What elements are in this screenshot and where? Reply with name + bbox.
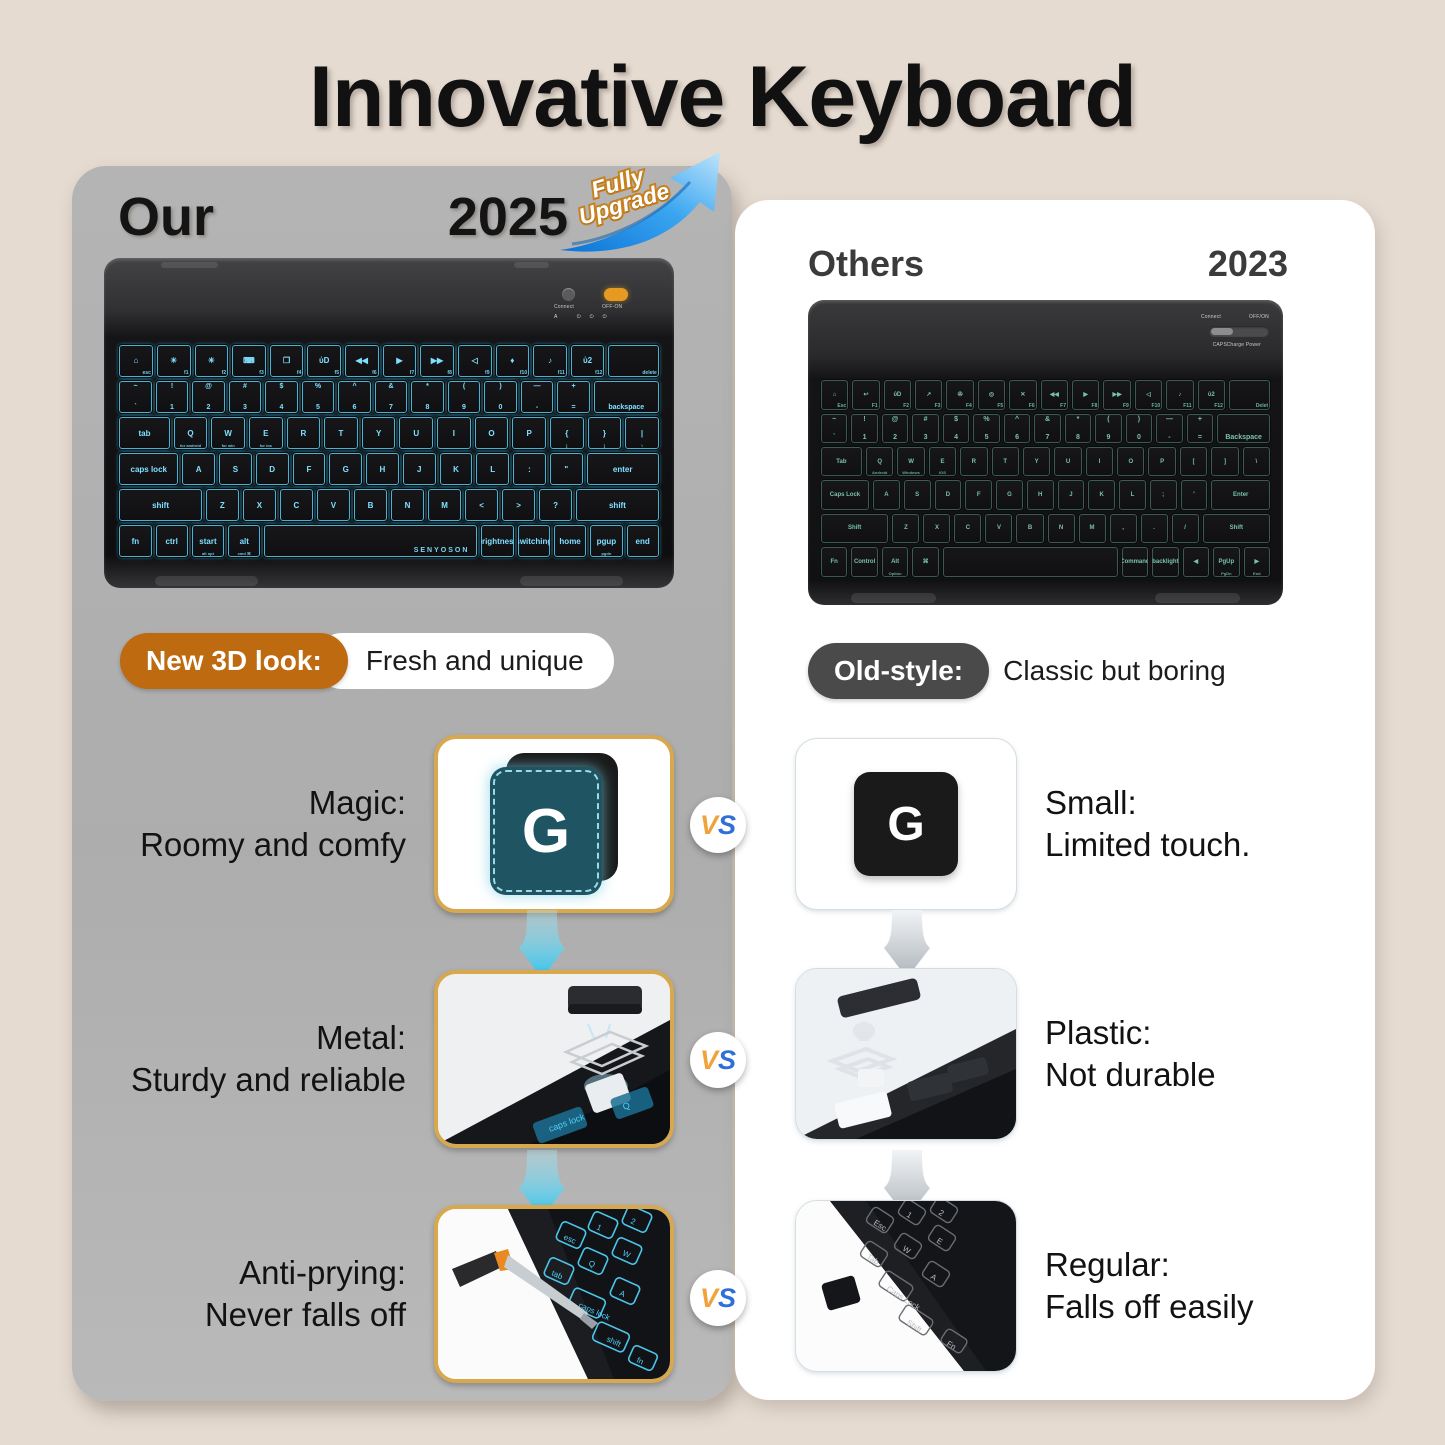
key-legend: ⌂ — [833, 392, 837, 398]
key-space[interactable] — [942, 546, 1119, 577]
key-legend: ὐD — [319, 356, 329, 365]
key-lower-legend: 8 — [426, 404, 430, 411]
feature-plastic-desc: Not durable — [1045, 1054, 1216, 1096]
key-legend: S — [233, 465, 238, 474]
key-"[interactable]: " — [549, 452, 584, 486]
key-f2[interactable]: ὐDF2 — [883, 379, 912, 410]
key-legend: ⌂ — [134, 356, 139, 365]
key-legend: ὑ2 — [1208, 392, 1215, 398]
key-8[interactable]: *8 — [410, 380, 445, 414]
key-g[interactable]: G — [995, 479, 1024, 510]
key-legend: K — [1099, 492, 1103, 498]
key-.[interactable]: . — [1140, 513, 1169, 544]
old-style-text: Classic but boring — [955, 643, 1256, 699]
feature-row-small: G Small: Limited touch. — [795, 738, 1355, 910]
key-n[interactable]: N — [390, 488, 425, 522]
key-control[interactable]: Control — [850, 546, 878, 577]
key-legend: ὑ2 — [583, 356, 592, 365]
key-sub-legend: f12 — [595, 370, 602, 376]
key-legend: ctrl — [165, 537, 177, 546]
our-style-row: New 3D look: Fresh and unique — [120, 633, 614, 689]
key-c[interactable]: C — [953, 513, 982, 544]
key--[interactable]: —- — [520, 380, 555, 414]
key-upper-legend: ^ — [1015, 416, 1019, 423]
key-row-asdf: caps lockASDFGHJKL:"enter — [118, 452, 660, 486]
key-,[interactable]: , — [1109, 513, 1138, 544]
others-key-rows: ⌂Esc↩F1ὐDF2↗F3✇F4◎F5✕F6◀◀F7▶F8▶▶F9◁F10♪F… — [820, 379, 1271, 577]
key-lower-legend: 9 — [1107, 434, 1111, 441]
key-legend: A — [196, 465, 202, 474]
power-switch[interactable] — [604, 288, 628, 301]
feature-regular-name: Regular: — [1045, 1244, 1253, 1286]
key-s[interactable]: S — [218, 452, 253, 486]
key-u[interactable]: U — [398, 416, 434, 450]
key-space[interactable]: SENYOSON — [263, 524, 478, 558]
our-keyboard-image: Connect OFF-ON A ⏻⏻⏻ ⌂esc☀f1☀f2⌨f3❐f4ὐDf… — [104, 258, 674, 588]
anti-prying-art: esc 1 2 tab Q W caps lock A shift fn — [438, 1209, 670, 1379]
key-x[interactable]: X — [922, 513, 951, 544]
key-1[interactable]: !1 — [850, 413, 878, 444]
infographic-root: Innovative Keyboard Our 2025 Fully Upgra… — [0, 0, 1445, 1445]
key-legend: ☀ — [170, 356, 177, 365]
key-y[interactable]: Y — [1022, 446, 1051, 477]
key-[[interactable]: [ — [1179, 446, 1208, 477]
key-f6[interactable]: ✕F6 — [1008, 379, 1037, 410]
key-b[interactable]: B — [353, 488, 388, 522]
connect-button[interactable] — [562, 288, 575, 301]
key-ctrl[interactable]: ctrl — [155, 524, 189, 558]
key-=[interactable]: += — [1186, 413, 1214, 444]
key-legend: G — [343, 465, 349, 474]
key-f3[interactable]: ↗F3 — [914, 379, 943, 410]
key-end[interactable]: end — [626, 524, 660, 558]
key-6[interactable]: ^6 — [1003, 413, 1031, 444]
our-year: 2025 — [448, 186, 568, 248]
key-f4[interactable]: ❐f4 — [269, 344, 305, 378]
key-home[interactable]: home — [553, 524, 587, 558]
key-fn[interactable]: Fn — [820, 546, 848, 577]
key-5[interactable]: %5 — [972, 413, 1000, 444]
key-g[interactable]: G — [328, 452, 363, 486]
key-f6[interactable]: ◀◀f6 — [344, 344, 380, 378]
key-legend: Q — [187, 429, 193, 438]
key-r[interactable]: R — [959, 446, 988, 477]
key-sub-legend: F6 — [1029, 403, 1035, 409]
key-shift[interactable]: Shift — [1202, 513, 1272, 544]
key-0[interactable]: )0 — [1125, 413, 1153, 444]
key-legend: enter — [613, 465, 633, 474]
key-lower-legend: 2 — [893, 434, 897, 441]
key-f3[interactable]: ⌨f3 — [231, 344, 267, 378]
key-row-zxcv: shiftZXCVBNM<>?shift — [118, 488, 660, 522]
key-legend: ? — [553, 501, 558, 510]
key-shift[interactable]: shift — [575, 488, 660, 522]
key-lower-legend: - — [536, 404, 538, 411]
key-enter[interactable]: enter — [586, 452, 660, 486]
key-backspace[interactable]: backspace — [593, 380, 660, 414]
key-upper-legend: ) — [1138, 416, 1140, 423]
key-legend: Enter — [1233, 492, 1248, 498]
key-f2[interactable]: ☀f2 — [194, 344, 230, 378]
key-legend: ❐ — [283, 356, 290, 365]
key-legend: N — [1059, 525, 1063, 531]
key-row-zxcv: ShiftZXCVBNM,./Shift — [820, 513, 1271, 544]
feature-plastic-name: Plastic: — [1045, 1012, 1216, 1054]
key-legend: pgup — [597, 537, 617, 546]
key-upper-legend: & — [1045, 416, 1050, 423]
key-caps-lock[interactable]: caps lock — [118, 452, 179, 486]
plastic-switch-thumbnail — [795, 968, 1017, 1140]
key-9[interactable]: (9 — [1094, 413, 1122, 444]
key-legend: shift — [609, 501, 626, 510]
key-f9[interactable]: ▶▶F9 — [1102, 379, 1131, 410]
key-upper-legend: + — [571, 383, 575, 390]
key-/[interactable]: / — [1171, 513, 1200, 544]
bezel-vent-right — [514, 262, 548, 268]
key-fn[interactable]: fn — [118, 524, 152, 558]
key-legend: C — [966, 525, 970, 531]
key-pgup[interactable]: pguppgdn — [589, 524, 623, 558]
key-shift[interactable]: shift — [118, 488, 203, 522]
key-legend: V — [997, 525, 1001, 531]
key-lower-legend: 7 — [1046, 434, 1050, 441]
key-e[interactable]: Efor ios — [248, 416, 284, 450]
key-tab[interactable]: tab — [118, 416, 170, 450]
key-upper-legend: — — [534, 383, 541, 390]
key-tiny-legend: \ — [641, 443, 642, 448]
key-legend: ♪ — [1178, 392, 1181, 398]
key-l[interactable]: L — [1118, 479, 1147, 510]
key-f1[interactable]: ☀f1 — [156, 344, 192, 378]
key-i[interactable]: I — [436, 416, 472, 450]
key-k[interactable]: K — [1087, 479, 1116, 510]
key-legend: Command — [1121, 559, 1149, 565]
key-legend: J — [417, 465, 421, 474]
key-tiny-legend: for win — [222, 443, 235, 448]
key-v[interactable]: V — [316, 488, 351, 522]
key-q[interactable]: Qfor android — [173, 416, 209, 450]
key-sub-legend: F10 — [1152, 403, 1161, 409]
key-tiny-legend: for ios — [260, 443, 272, 448]
key-2[interactable]: @2 — [191, 380, 226, 414]
feature-metal-desc: Sturdy and reliable — [131, 1059, 406, 1101]
key-o[interactable]: O — [474, 416, 510, 450]
key-|[interactable]: |\ — [624, 416, 660, 450]
key-legend: D — [946, 492, 950, 498]
key-upper-legend: ) — [499, 383, 501, 390]
key-command[interactable]: Command — [1121, 546, 1149, 577]
key-h[interactable]: H — [1026, 479, 1055, 510]
key-sub-legend: F11 — [1183, 403, 1191, 409]
key-row-numbers: ~`!1@2#3$4%5^6&7*8(9)0—-+=Backspace — [820, 413, 1271, 444]
key-k[interactable]: K — [439, 452, 474, 486]
key-f11[interactable]: ♪f11 — [532, 344, 568, 378]
key-7[interactable]: &7 — [374, 380, 409, 414]
key-sub-legend: f2 — [222, 370, 226, 376]
key-legend: ⌘ — [923, 558, 929, 565]
old-style-badge: Old-style: — [808, 643, 989, 699]
key-legend: B — [1028, 525, 1032, 531]
key-sub-legend: f1 — [184, 370, 188, 376]
key-f5[interactable]: ◎F5 — [977, 379, 1006, 410]
key-pgup[interactable]: PgUpPgDn — [1212, 546, 1240, 577]
key-m[interactable]: M — [427, 488, 462, 522]
key-1[interactable]: !1 — [155, 380, 190, 414]
power-slider[interactable] — [1209, 326, 1269, 337]
key-upper-legend: # — [924, 416, 928, 423]
key-lower-legend: 1 — [170, 404, 174, 411]
key-▶[interactable]: ▶End — [1243, 546, 1271, 577]
key-upper-legend: ( — [463, 383, 465, 390]
key-x[interactable]: X — [242, 488, 277, 522]
key-z[interactable]: Z — [205, 488, 240, 522]
key-upper-legend: ~ — [133, 383, 137, 390]
key-0[interactable]: )0 — [483, 380, 518, 414]
key-letter-g: G — [522, 796, 570, 867]
key-s[interactable]: S — [903, 479, 932, 510]
feature-row-regular: Esc 1 2 Tab W E Caps Lock A Shift Fn Reg… — [795, 1200, 1355, 1372]
key--[interactable]: —- — [1155, 413, 1183, 444]
keyboard-brand: SENYOSON — [414, 547, 470, 554]
key-row-bottom: FnControlAltOption⌘Commandbacklight◀PgUp… — [820, 546, 1271, 577]
vs-badge-2: VS — [690, 1032, 746, 1088]
key-f8[interactable]: ▶F8 — [1071, 379, 1100, 410]
key-delet[interactable]: Delet — [1228, 379, 1271, 410]
key-3[interactable]: #3 — [911, 413, 939, 444]
key-i[interactable]: I — [1085, 446, 1114, 477]
key-sub-legend: delete — [642, 370, 656, 376]
key-legend: U — [1066, 459, 1070, 465]
key-l[interactable]: L — [475, 452, 510, 486]
key-sub-legend: f9 — [485, 370, 489, 376]
key-f12[interactable]: ὑ2F12 — [1197, 379, 1226, 410]
key-enter[interactable]: Enter — [1210, 479, 1271, 510]
key-upper-legend: ( — [1107, 416, 1109, 423]
key-9[interactable]: (9 — [447, 380, 482, 414]
connect-label: Connect — [554, 304, 574, 310]
key-legend: start — [199, 537, 216, 546]
key-t[interactable]: T — [991, 446, 1020, 477]
power-label: OFF-ON — [602, 304, 622, 310]
vs-badge-1: VS — [690, 797, 746, 853]
metal-switch-art: caps lock Q — [438, 974, 670, 1144]
key-lower-legend: 3 — [924, 434, 928, 441]
key-d[interactable]: D — [255, 452, 290, 486]
key-f10[interactable]: ◁F10 — [1134, 379, 1163, 410]
key-b[interactable]: B — [1015, 513, 1044, 544]
key-legend: M — [441, 501, 448, 510]
key-legend: ; — [1162, 492, 1164, 498]
key-f11[interactable]: ♪F11 — [1165, 379, 1194, 410]
key-'[interactable]: ' — [1180, 479, 1209, 510]
key-a[interactable]: A — [872, 479, 901, 510]
key-legend: ▶ — [1255, 558, 1260, 565]
key-4[interactable]: $4 — [942, 413, 970, 444]
key-][interactable]: ] — [1210, 446, 1239, 477]
key-e[interactable]: EIOS — [928, 446, 957, 477]
key-row-function: ⌂Esc↩F1ὐDF2↗F3✇F4◎F5✕F6◀◀F7▶F8▶▶F9◁F10♪F… — [820, 379, 1271, 410]
key-legend: ◎ — [989, 391, 994, 398]
key-f5[interactable]: ὐDf5 — [306, 344, 342, 378]
key-=[interactable]: += — [556, 380, 591, 414]
key-legend: W — [224, 429, 232, 438]
key-w[interactable]: WWindows — [896, 446, 925, 477]
key-2[interactable]: @2 — [881, 413, 909, 444]
key-tiny-legend: for android — [180, 443, 201, 448]
key-lower-legend: 7 — [389, 404, 393, 411]
key-v[interactable]: V — [984, 513, 1013, 544]
key-f7[interactable]: ▶f7 — [382, 344, 418, 378]
key-y[interactable]: Y — [361, 416, 397, 450]
key-upper-legend: @ — [892, 416, 899, 423]
key-c[interactable]: C — [279, 488, 314, 522]
key-z[interactable]: Z — [891, 513, 920, 544]
key-lower-legend: 0 — [499, 404, 503, 411]
key-{[interactable]: {[ — [549, 416, 585, 450]
regular-key-thumbnail: Esc 1 2 Tab W E Caps Lock A Shift Fn — [795, 1200, 1017, 1372]
key-brightness[interactable]: brightness — [480, 524, 514, 558]
key-?[interactable]: ? — [538, 488, 573, 522]
key-p[interactable]: P — [1147, 446, 1176, 477]
key-f10[interactable]: ♦f10 — [495, 344, 531, 378]
key-lower-legend: 4 — [954, 434, 958, 441]
key-legend: | — [641, 429, 643, 438]
key-d[interactable]: D — [934, 479, 963, 510]
page-title: Innovative Keyboard — [0, 48, 1445, 147]
key-legend: Z — [220, 501, 225, 510]
key-f[interactable]: F — [964, 479, 993, 510]
key-legend: ↩ — [863, 391, 868, 398]
key-legend: ♪ — [548, 356, 552, 365]
key-5[interactable]: %5 — [301, 380, 336, 414]
key-:[interactable]: : — [512, 452, 547, 486]
key-legend: J — [1069, 492, 1072, 498]
key-legend: D — [269, 465, 275, 474]
key-shift[interactable]: Shift — [820, 513, 890, 544]
key-legend: ▶▶ — [1112, 391, 1121, 398]
key-m[interactable]: M — [1078, 513, 1107, 544]
key-lower-legend: 3 — [243, 404, 247, 411]
key-legend: switching — [517, 537, 551, 546]
feature-anti-prying-desc: Never falls off — [205, 1294, 406, 1336]
key-lower-legend: = — [1198, 434, 1202, 441]
key-f7[interactable]: ◀◀F7 — [1040, 379, 1069, 410]
key-`[interactable]: ~` — [820, 413, 848, 444]
regular-key-art: Esc 1 2 Tab W E Caps Lock A Shift Fn — [796, 1201, 1016, 1371]
feature-row-metal: Metal: Sturdy and reliable — [84, 970, 674, 1148]
key-legend: H — [380, 465, 386, 474]
feature-metal-name: Metal: — [131, 1017, 406, 1059]
key-lower-legend: 6 — [1015, 434, 1019, 441]
key-Backspace[interactable]: Backspace — [1216, 413, 1271, 444]
key-upper-legend: # — [243, 383, 247, 390]
charge-power-indicator: Charge Power — [1227, 342, 1261, 348]
key-alt[interactable]: AltOption — [881, 546, 909, 577]
key-tiny-legend: cmd ⌘ — [238, 551, 251, 556]
key-f1[interactable]: ↩F1 — [851, 379, 880, 410]
key-switching[interactable]: switching — [517, 524, 551, 558]
key-\[interactable]: \ — [1242, 446, 1271, 477]
key-`[interactable]: ~` — [118, 380, 153, 414]
key-alt[interactable]: altcmd ⌘ — [227, 524, 261, 558]
key-t[interactable]: T — [323, 416, 359, 450]
key-lower-legend: ` — [833, 434, 835, 441]
metal-switch-thumbnail: caps lock Q — [434, 970, 674, 1148]
key-legend: E — [263, 429, 268, 438]
key-◀[interactable]: ◀ — [1182, 546, 1210, 577]
key-esc[interactable]: ⌂Esc — [820, 379, 849, 410]
key-r[interactable]: R — [286, 416, 322, 450]
key-f4[interactable]: ✇F4 — [945, 379, 974, 410]
key-<[interactable]: < — [464, 488, 499, 522]
key-4[interactable]: $4 — [264, 380, 299, 414]
key-tab[interactable]: Tab — [820, 446, 863, 477]
key-⌘[interactable]: ⌘ — [911, 546, 939, 577]
key-upper-legend: $ — [280, 383, 284, 390]
key-w[interactable]: Wfor win — [210, 416, 246, 450]
key-8[interactable]: *8 — [1064, 413, 1092, 444]
key-legend: " — [564, 465, 568, 474]
key-legend: O — [488, 429, 494, 438]
key-u[interactable]: U — [1053, 446, 1082, 477]
key-f9[interactable]: ◁f9 — [457, 344, 493, 378]
key-upper-legend: & — [388, 383, 393, 390]
key-q[interactable]: QAndroid — [865, 446, 894, 477]
feature-anti-prying-text: Anti-prying: Never falls off — [205, 1252, 406, 1336]
key->[interactable]: > — [501, 488, 536, 522]
connect-label: Connect — [1201, 314, 1221, 320]
key-legend: I — [1099, 459, 1101, 465]
feature-small-name: Small: — [1045, 782, 1250, 824]
key-f8[interactable]: ▶▶f8 — [419, 344, 455, 378]
key-tiny-legend: ] — [604, 443, 605, 448]
key-legend: R — [972, 459, 976, 465]
key-6[interactable]: ^6 — [337, 380, 372, 414]
key-3[interactable]: #3 — [228, 380, 263, 414]
key-f[interactable]: F — [292, 452, 327, 486]
key-;[interactable]: ; — [1149, 479, 1178, 510]
key-legend: ◁ — [472, 356, 478, 365]
key-j[interactable]: J — [402, 452, 437, 486]
key-lower-legend: 5 — [985, 434, 989, 441]
vs-s: S — [718, 1045, 736, 1076]
feature-row-anti-prying: Anti-prying: Never falls off — [84, 1205, 674, 1383]
key-delete[interactable]: delete — [607, 344, 659, 378]
key-legend: Caps Lock — [830, 492, 860, 498]
key-h[interactable]: H — [365, 452, 400, 486]
key-7[interactable]: &7 — [1033, 413, 1061, 444]
key-legend: { — [565, 429, 568, 438]
key-legend: ▶ — [1083, 391, 1088, 398]
key-o[interactable]: O — [1116, 446, 1145, 477]
key-n[interactable]: N — [1047, 513, 1076, 544]
key-backlight[interactable]: backlight — [1151, 546, 1179, 577]
key-start[interactable]: startalt opt — [191, 524, 225, 558]
key-lower-legend: 6 — [353, 404, 357, 411]
key-lower-legend: - — [1168, 434, 1170, 441]
key-}[interactable]: }] — [587, 416, 623, 450]
key-a[interactable]: A — [181, 452, 216, 486]
key-caps-lock[interactable]: Caps Lock — [820, 479, 870, 510]
key-p[interactable]: P — [511, 416, 547, 450]
key-tiny-legend: IOS — [939, 470, 946, 475]
key-legend: C — [294, 501, 300, 510]
key-legend: X — [935, 525, 939, 531]
key-upper-legend: * — [426, 383, 429, 390]
key-esc[interactable]: ⌂esc — [118, 344, 154, 378]
key-f12[interactable]: ὑ2f12 — [570, 344, 606, 378]
key-j[interactable]: J — [1057, 479, 1086, 510]
